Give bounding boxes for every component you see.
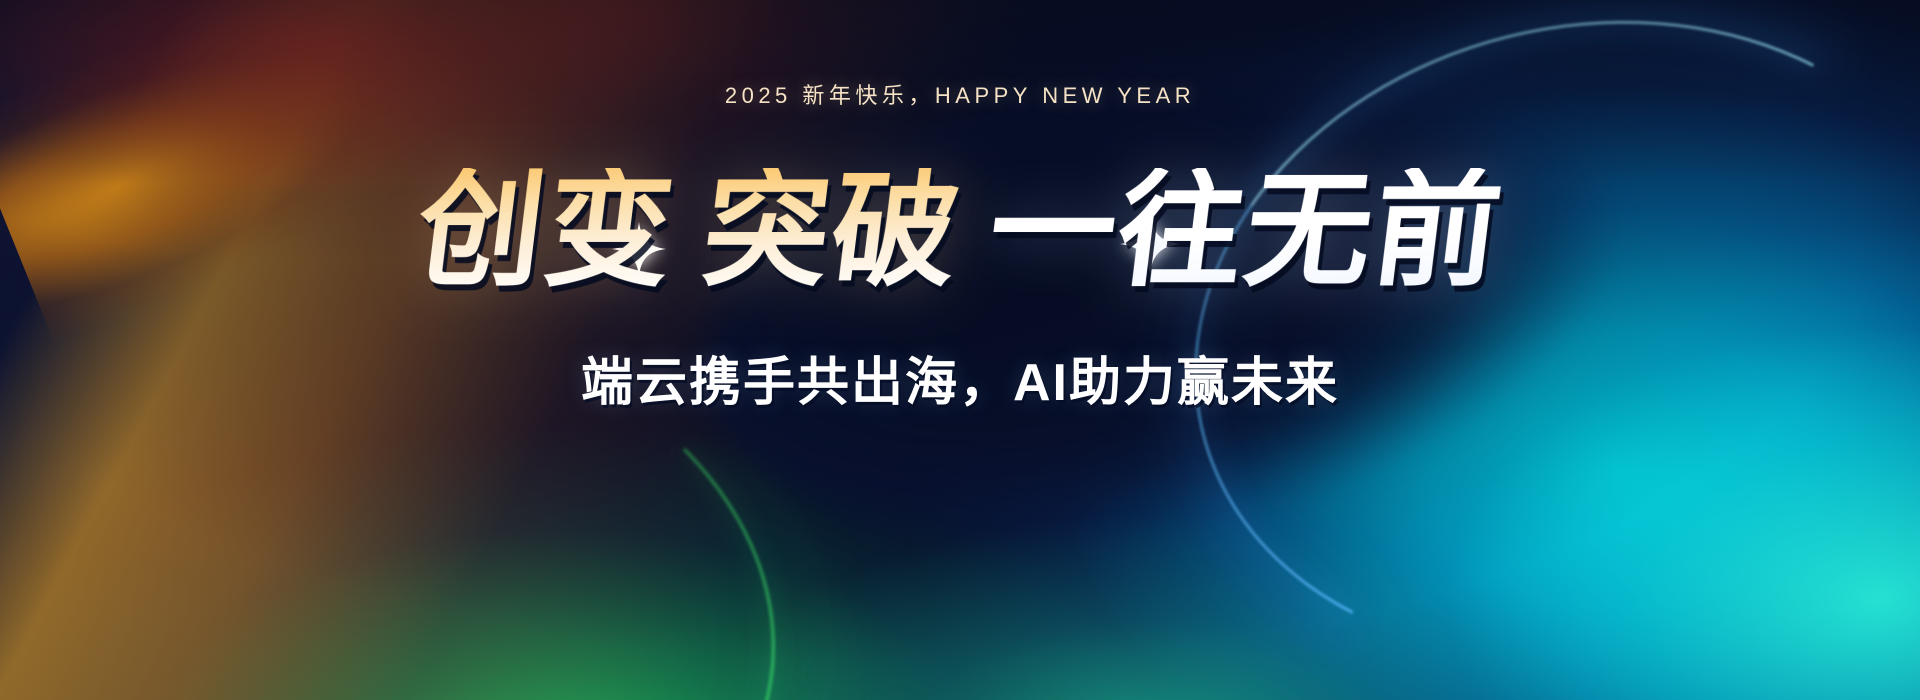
headline-segment-1: 创变 — [408, 168, 683, 294]
new-year-banner: 2025 新年快乐，HAPPY NEW YEAR 创变 突破 一往无前 端云携手… — [0, 0, 1920, 700]
headline-segment-2: 突破 — [694, 168, 969, 294]
headline: 创变 突破 一往无前 — [408, 168, 1511, 294]
banner-content: 2025 新年快乐，HAPPY NEW YEAR 创变 突破 一往无前 端云携手… — [0, 0, 1920, 700]
subheadline-text: 端云携手共出海，AI助力赢未来 — [581, 340, 1339, 415]
eyebrow-text: 2025 新年快乐，HAPPY NEW YEAR — [725, 78, 1195, 110]
headline-segment-3: 一往无前 — [980, 168, 1511, 294]
